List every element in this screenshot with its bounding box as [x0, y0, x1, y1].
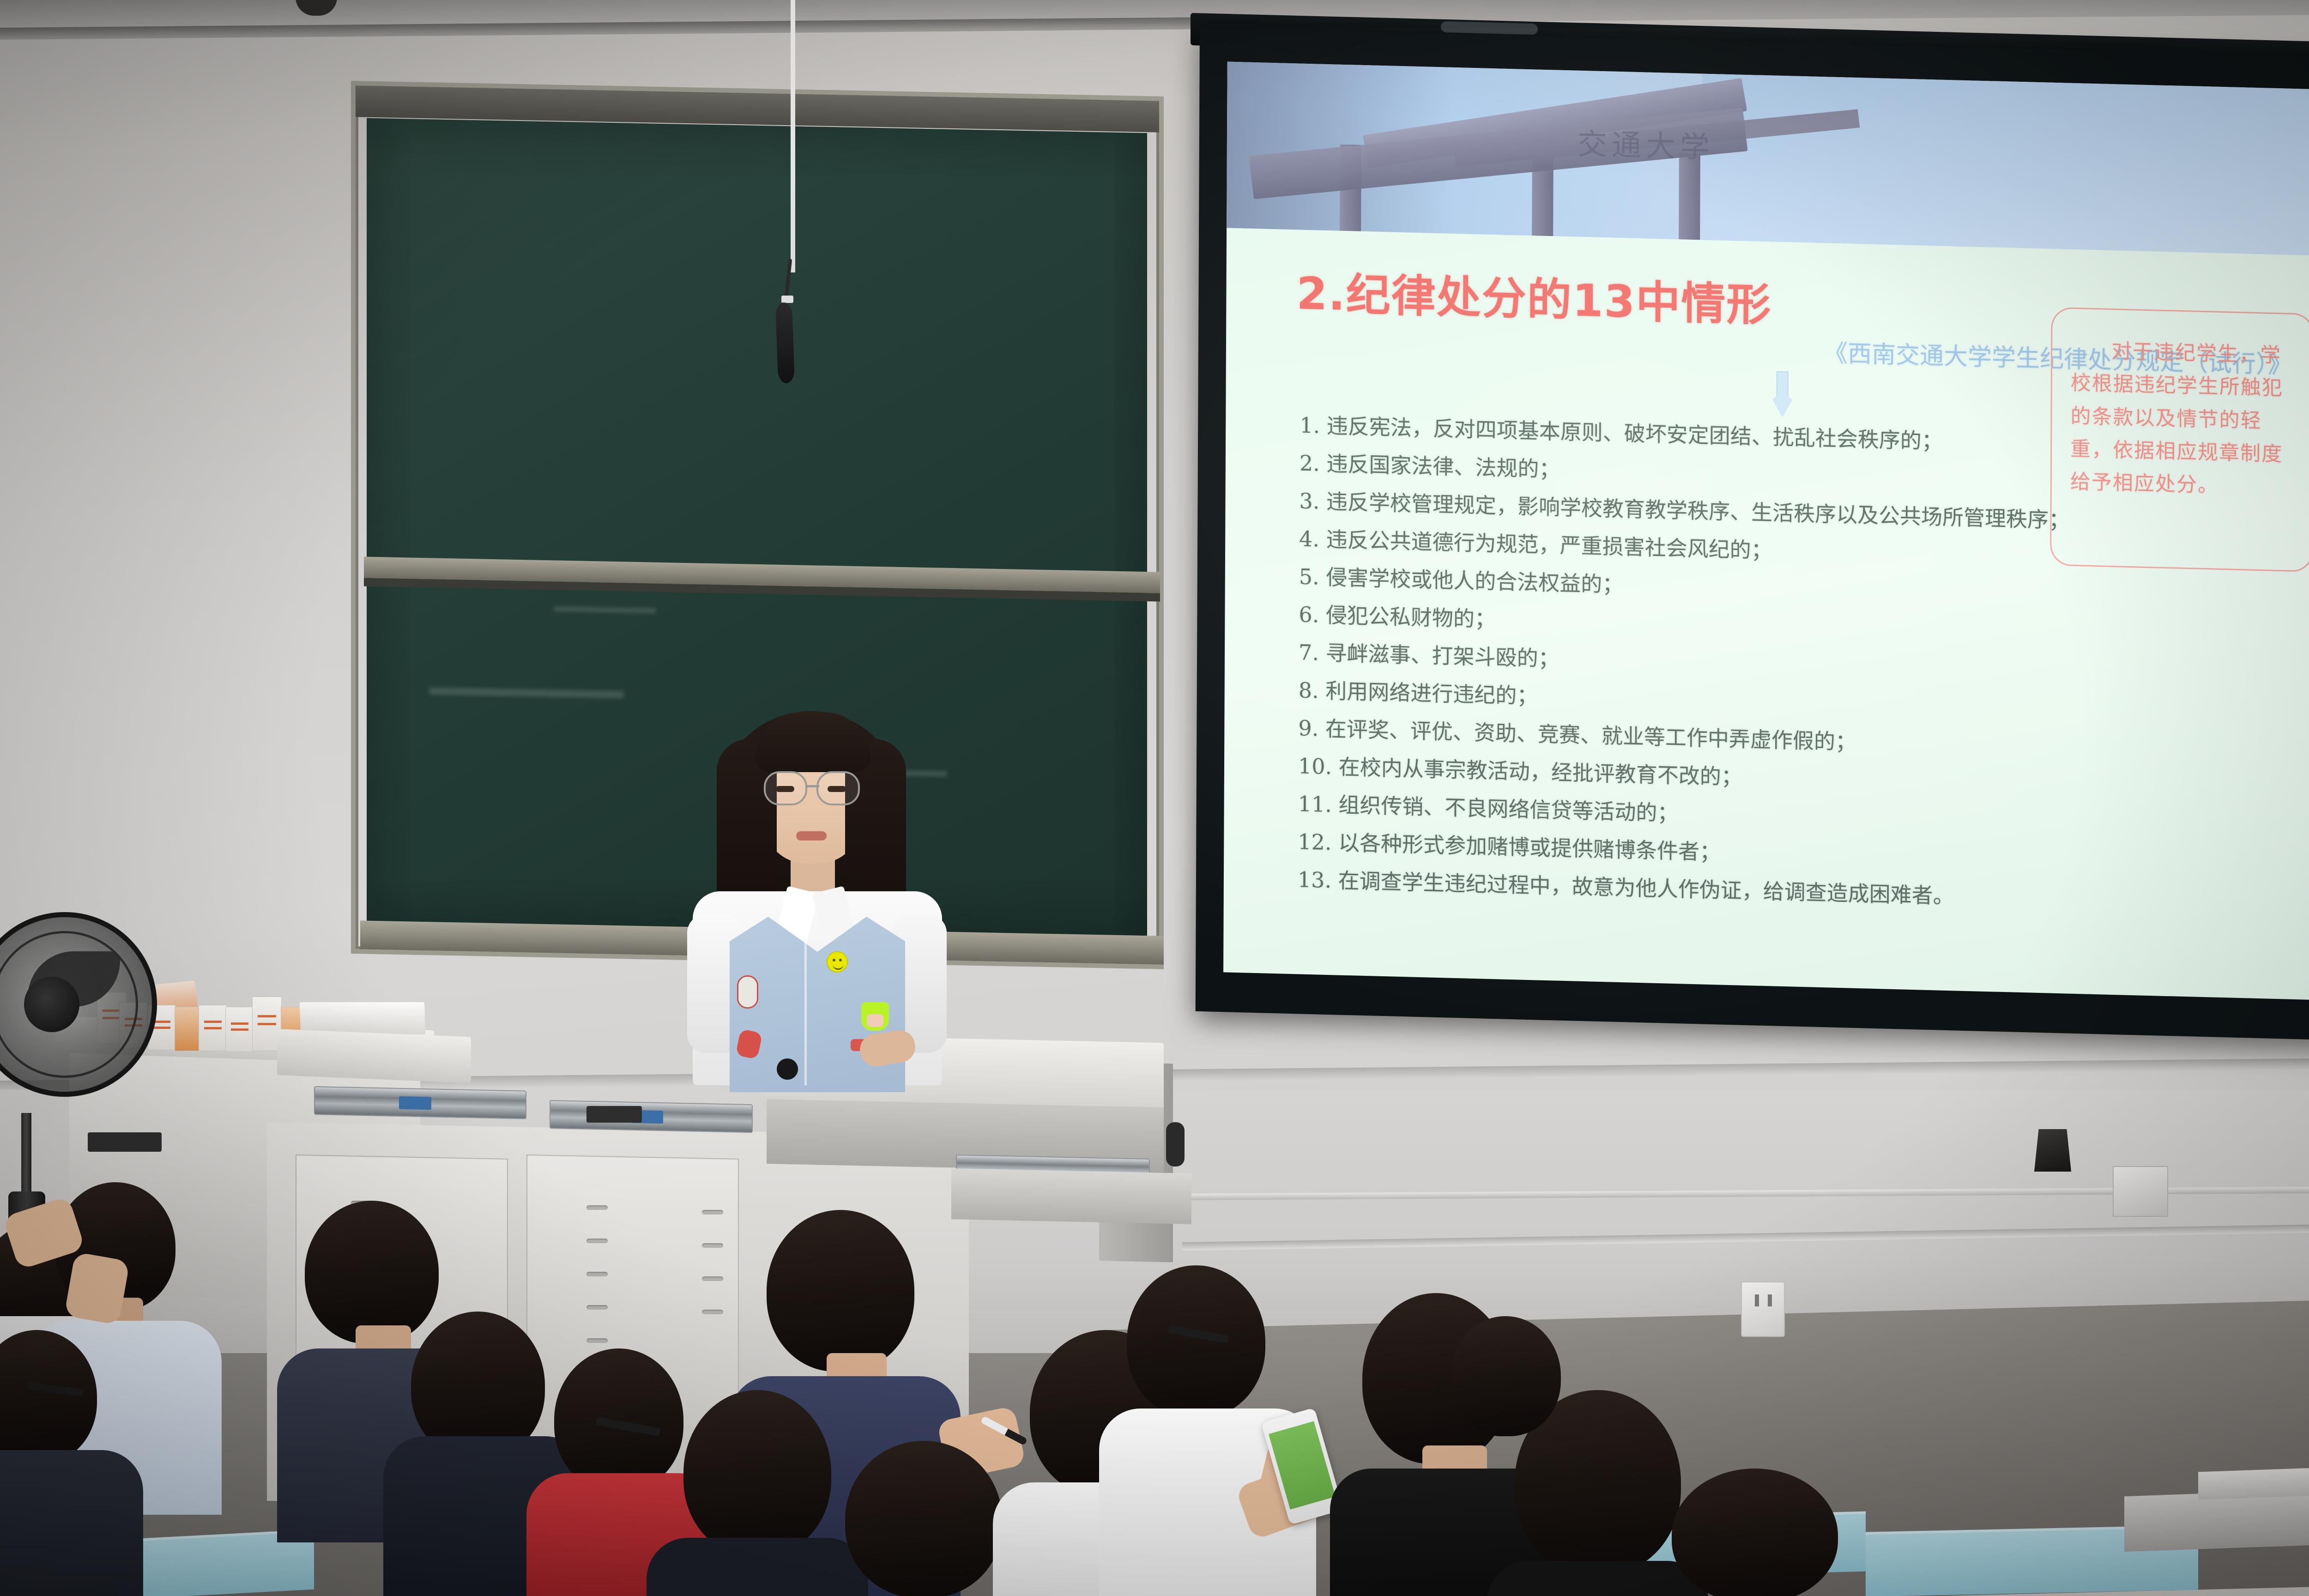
box-item — [175, 1007, 201, 1051]
presenter-eye — [776, 786, 794, 792]
classroom-scene: 交通大学 2.纪律处分的13中情形 《西南交通大学学生纪律处分规定（试行）》 1… — [0, 0, 2309, 1596]
rule-item: 7. 寻衅滋事、打架斗殴的； — [1299, 641, 2111, 683]
podium-left-shelf — [277, 1029, 471, 1083]
keyboard-tray-rail[interactable] — [550, 1100, 753, 1133]
podium-vent — [586, 1305, 608, 1310]
podium-vent — [586, 1205, 608, 1210]
rule-item: 4. 违反公共道德行为规范，严重损害社会风纪的； — [1299, 528, 2112, 570]
rule-item: 5. 侵害学校或他人的合法权益的； — [1299, 566, 2112, 608]
podium-vent — [702, 1276, 723, 1281]
rule-item: 1. 违反宪法，反对四项基本原则、破坏安定团结、扰乱社会秩序的； — [1300, 414, 2112, 456]
arrow-down-icon — [1770, 371, 1795, 417]
podium-vent — [586, 1239, 608, 1243]
arrow-head — [1770, 395, 1795, 417]
glasses-bridge — [805, 785, 819, 787]
rule-item: 3. 违反学校管理规定，影响学校教育教学秩序、生活秩序以及公共场所管理秩序； — [1299, 490, 2112, 532]
podium-plate-left — [88, 1132, 162, 1152]
presenter-mouth — [796, 831, 827, 840]
banner-sky — [1701, 74, 2309, 257]
rule-item: 9. 在评奖、评优、资助、竞赛、就业等工作中弄虚作假的； — [1298, 717, 2111, 759]
rule-item: 11. 组织传销、不良网络信贷等活动的； — [1298, 793, 2111, 835]
paper-stack — [300, 1002, 426, 1034]
fan-hub — [24, 977, 79, 1032]
wall-outlet — [1741, 1282, 1785, 1337]
projection-screen: 交通大学 2.纪律处分的13中情形 《西南交通大学学生纪律处分规定（试行）》 1… — [1196, 28, 2309, 1041]
rule-item: 13. 在调查学生违纪过程中，故意为他人作伪证，给调查造成困难者。 — [1298, 869, 2110, 911]
cartoon-patch-icon — [861, 1002, 889, 1031]
smiley-pin-icon — [827, 951, 848, 973]
podium-vent — [586, 1272, 608, 1276]
microphone-clip — [781, 296, 793, 303]
presentation-slide: 交通大学 2.纪律处分的13中情形 《西南交通大学学生纪律处分规定（试行）》 1… — [1223, 62, 2309, 1001]
podium-lower-tray[interactable] — [951, 1168, 1191, 1224]
podium-vent — [702, 1210, 723, 1215]
presenter-eye — [828, 786, 846, 792]
podium-knob[interactable] — [1166, 1122, 1185, 1167]
junction-box — [2113, 1166, 2168, 1217]
podium-vent — [702, 1243, 723, 1248]
microphone-icon — [775, 302, 795, 383]
microphone-cord — [791, 0, 795, 272]
vest-button — [777, 1058, 798, 1080]
rule-item: 12. 以各种形式参加赌博或提供赌博条件者； — [1298, 831, 2110, 873]
box-item — [225, 1007, 254, 1052]
arrow-shaft — [1777, 371, 1789, 398]
banner-calligraphy-text: 交通大学 — [1578, 121, 1714, 166]
rule-item: 6. 侵犯公私财物的； — [1299, 604, 2111, 646]
slide-banner-photo: 交通大学 — [1227, 62, 2309, 257]
podium-plate-center — [586, 1106, 642, 1123]
callout-box: 对于违纪学生，学校根据违纪学生所触犯的条款以及情节的轻重，依据相应规章制度给予相… — [2050, 307, 2309, 572]
discipline-rule-list: 1. 违反宪法，反对四项基本原则、破坏安定团结、扰乱社会秩序的； 2. 违反国家… — [1298, 414, 2113, 927]
podium-vent — [702, 1310, 723, 1314]
rule-item: 10. 在校内从事宗教活动，经批评教育不改的； — [1298, 755, 2111, 797]
podium-vent — [586, 1338, 608, 1343]
callout-text: 对于违纪学生，学校根据违纪学生所触犯的条款以及情节的轻重，依据相应规章制度给予相… — [2070, 334, 2295, 504]
slide-title: 2.纪律处分的13中情形 — [1296, 257, 1771, 333]
rule-item: 2. 违反国家法律、法规的； — [1300, 452, 2112, 494]
box-item — [199, 1005, 227, 1051]
presenter-vest-seam — [804, 924, 807, 1085]
oval-pin-icon — [737, 975, 758, 1009]
banner-pillar — [1679, 153, 1700, 240]
rule-item: 8. 利用网络进行违纪的； — [1299, 679, 2111, 721]
keyboard-tray-rail[interactable] — [314, 1086, 526, 1119]
wall-speaker-icon — [2034, 1129, 2071, 1172]
